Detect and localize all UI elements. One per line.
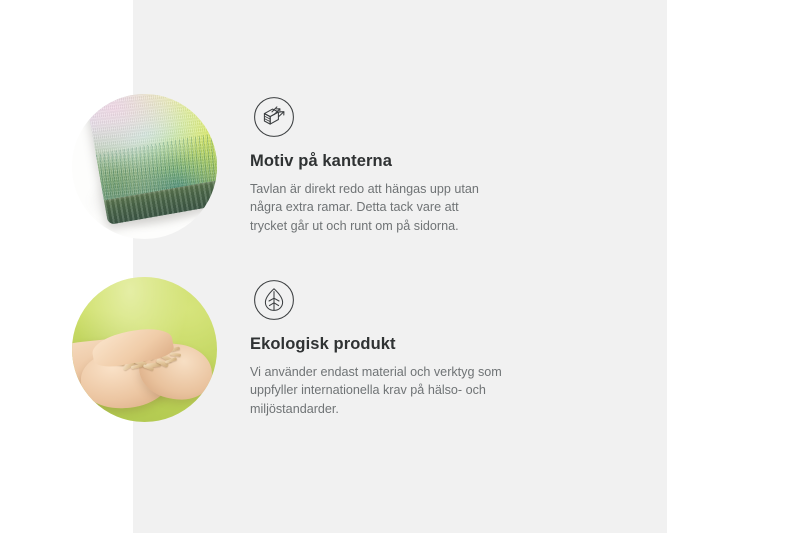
description-line: Tavlan är direkt redo att hängas upp uta… (250, 180, 522, 199)
feature-description: Vi använder endast material och verktyg … (250, 363, 522, 419)
description-line: miljöstandarder. (250, 400, 522, 419)
canvas-print-corner-photo (72, 94, 217, 239)
description-line: Vi använder endast material och verktyg … (250, 363, 522, 382)
feature-text-edges: Motiv på kanterna Tavlan är direkt redo … (250, 152, 522, 236)
feature-description: Tavlan är direkt redo att hängas upp uta… (250, 180, 522, 236)
description-line: uppfyller internationella krav på hälso-… (250, 381, 522, 400)
feature-title: Motiv på kanterna (250, 152, 522, 172)
feature-title: Ekologisk produkt (250, 335, 522, 355)
description-line: några extra ramar. Detta tack vare att (250, 198, 522, 217)
canvas-wrapped-edges-icon (253, 96, 295, 138)
feature-block-edges: Motiv på kanterna Tavlan är direkt redo … (0, 72, 534, 262)
canvas-slab (84, 94, 217, 225)
feature-text-eco: Ekologisk produkt Vi använder endast mat… (250, 335, 522, 419)
wood-chip (131, 364, 143, 370)
feature-block-eco: Ekologisk produkt Vi använder endast mat… (0, 255, 534, 445)
leaf-icon (253, 279, 295, 321)
description-line: trycket går ut och runt om på sidorna. (250, 217, 522, 236)
product-feature-infographic: Motiv på kanterna Tavlan är direkt redo … (0, 0, 800, 533)
hands-holding-wood-chips-photo (72, 277, 217, 422)
